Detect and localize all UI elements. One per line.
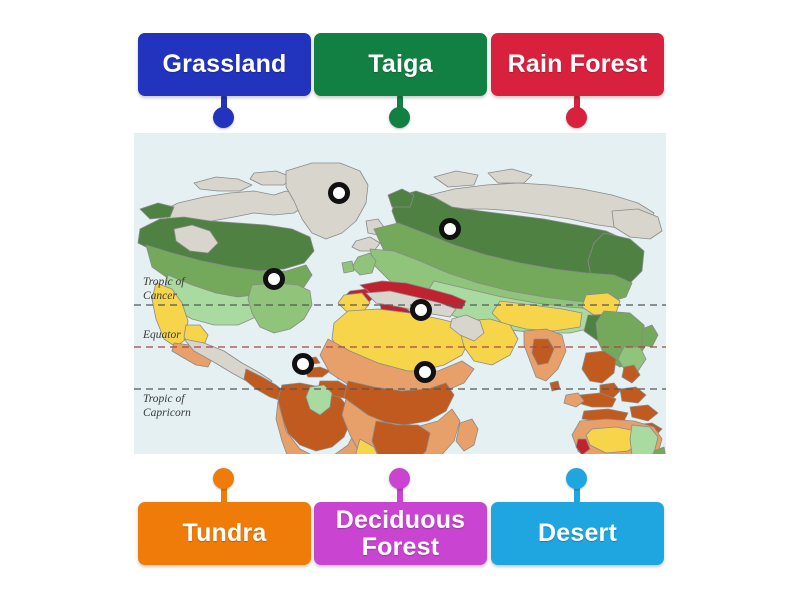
connector-dot-deciduous-forest[interactable]	[389, 468, 410, 489]
label-box-rain-forest[interactable]: Rain Forest	[491, 33, 664, 96]
marker-sahara[interactable]	[410, 299, 432, 321]
connector-dot-desert[interactable]	[566, 468, 587, 489]
world-biome-map: Tropic of Cancer Equator Tropic of Capri…	[134, 133, 666, 454]
tropic-of-cancer-label: Tropic of Cancer	[143, 276, 184, 303]
marker-southern-africa[interactable]	[414, 361, 436, 383]
connector-dot-grassland[interactable]	[213, 107, 234, 128]
marker-north-america[interactable]	[263, 268, 285, 290]
biome-map-graphic	[134, 133, 666, 454]
label-text-grassland: Grassland	[162, 51, 286, 78]
label-text-deciduous-forest: Deciduous Forest	[336, 507, 466, 561]
marker-greenland[interactable]	[328, 182, 350, 204]
marker-scandinavia[interactable]	[439, 218, 461, 240]
label-box-tundra[interactable]: Tundra	[138, 502, 311, 565]
connector-dot-taiga[interactable]	[389, 107, 410, 128]
marker-south-america[interactable]	[292, 353, 314, 375]
label-text-taiga: Taiga	[368, 51, 432, 78]
label-text-tundra: Tundra	[182, 520, 266, 547]
label-box-grassland[interactable]: Grassland	[138, 33, 311, 96]
connector-dot-rain-forest[interactable]	[566, 107, 587, 128]
label-box-desert[interactable]: Desert	[491, 502, 664, 565]
tropic-of-capricorn-label: Tropic of Capricorn	[143, 393, 191, 420]
label-box-taiga[interactable]: Taiga	[314, 33, 487, 96]
label-text-desert: Desert	[538, 520, 617, 547]
equator-label: Equator	[143, 329, 181, 343]
label-text-rain-forest: Rain Forest	[508, 51, 648, 78]
label-box-deciduous-forest[interactable]: Deciduous Forest	[314, 502, 487, 565]
diagram-stage: Tropic of Cancer Equator Tropic of Capri…	[0, 0, 800, 600]
connector-dot-tundra[interactable]	[213, 468, 234, 489]
